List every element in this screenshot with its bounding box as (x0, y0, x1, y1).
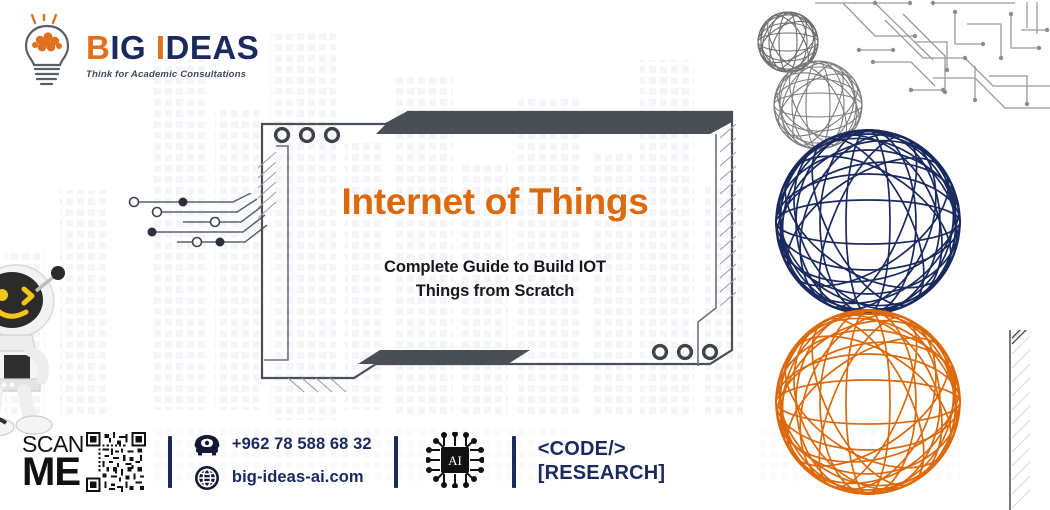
code-research-brand: <CODE/> [RESEARCH] (538, 438, 666, 485)
footer-divider-3 (512, 436, 516, 488)
page-title: Internet of Things (280, 183, 710, 222)
qr-code[interactable] (86, 432, 146, 492)
subtitle-line-2: Things from Scratch (280, 280, 710, 304)
subtitle-line-1: Complete Guide to Build IOT (280, 256, 710, 280)
lightbulb-brain-icon (18, 14, 76, 90)
sphere-orange-large (750, 280, 988, 510)
logo-letters-ig: IG (110, 29, 146, 66)
footer-divider-2 (394, 436, 398, 488)
logo-letters-deas: DEAS (166, 29, 260, 66)
page-subtitle: Complete Guide to Build IOT Things from … (280, 256, 710, 304)
scan-label-line2: ME (22, 455, 84, 490)
scan-me-block[interactable]: SCAN ME (22, 432, 146, 492)
contact-website-row[interactable]: big-ideas-ai.com (194, 465, 372, 491)
logo-letter-i: I (156, 29, 166, 66)
contact-block: +962 78 588 68 32 big-ideas-ai.com (194, 434, 372, 491)
logo-wordmark: BIG IDEAS (86, 31, 259, 64)
ai-chip-block: AI (426, 432, 484, 493)
ai-chip-label: AI (448, 453, 462, 468)
website-url: big-ideas-ai.com (232, 468, 364, 487)
poster-canvas: BIG IDEAS Think for Academic Consultatio… (0, 0, 1050, 510)
headline-block: Internet of Things Complete Guide to Bui… (280, 183, 710, 304)
phone-number: +962 78 588 68 32 (232, 435, 372, 454)
telephone-icon (194, 434, 220, 456)
robot-astronaut-mascot (0, 255, 78, 440)
circuit-leads-pattern (125, 193, 275, 255)
brand-line-2: [RESEARCH] (538, 462, 666, 486)
brand-line-1: <CODE/> (538, 438, 666, 462)
footer-divider-1 (168, 436, 172, 488)
footer-bar: SCAN ME (0, 422, 740, 502)
sphere-gray-small (750, 3, 826, 81)
brand-logo: BIG IDEAS Think for Academic Consultatio… (18, 14, 259, 90)
corner-hatch-decoration (992, 330, 1032, 510)
contact-phone-row[interactable]: +962 78 588 68 32 (194, 434, 372, 456)
ai-chip-icon: AI (426, 432, 484, 488)
logo-letter-b: B (86, 29, 110, 66)
scan-me-label: SCAN ME (22, 434, 84, 489)
sphere-navy-large (750, 100, 988, 343)
globe-icon (194, 465, 220, 491)
logo-tagline: Think for Academic Consultations (86, 69, 259, 80)
